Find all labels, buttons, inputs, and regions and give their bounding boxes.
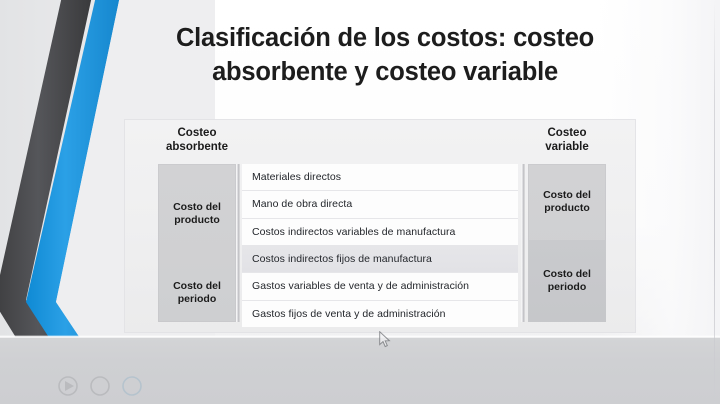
absorption-header-line-1: Costeo <box>141 126 253 140</box>
variable-header-line-1: Costeo <box>511 126 623 140</box>
variable-product-cost-block: Costo del producto <box>528 164 606 240</box>
column-header-absorption-costing: Costeo absorbente <box>141 126 253 155</box>
variable-header-line-2: variable <box>511 140 623 154</box>
left-bracket-rail <box>236 164 240 322</box>
list-item: Materiales directos <box>242 164 518 191</box>
absorption-period-line-1: Costo del <box>173 280 221 293</box>
right-bracket-rail <box>521 164 525 322</box>
absorption-period-cost-block: Costo del periodo <box>158 264 236 322</box>
cost-item-label: Costos indirectos variables de manufactu… <box>252 226 455 238</box>
cost-item-label: Materiales directos <box>252 171 341 183</box>
slide-canvas: Clasificación de los costos: costeo abso… <box>0 0 720 404</box>
column-header-variable-costing: Costeo variable <box>511 126 623 155</box>
variable-period-line-1: Costo del <box>543 268 591 281</box>
cost-item-label: Gastos variables de venta y de administr… <box>252 280 469 292</box>
cost-item-list: Materiales directos Mano de obra directa… <box>242 164 518 322</box>
variable-product-line-2: producto <box>543 202 591 215</box>
variable-category-column: Costo del producto Costo del periodo <box>528 164 606 322</box>
list-item: Gastos variables de venta y de administr… <box>242 273 518 300</box>
title-line-1: Clasificación de los costos: costeo <box>150 22 620 56</box>
variable-period-line-2: periodo <box>543 281 591 294</box>
cost-item-label: Gastos fijos de venta y de administració… <box>252 308 445 320</box>
absorption-category-column: Costo del producto Costo del periodo <box>158 164 236 322</box>
list-item: Gastos fijos de venta y de administració… <box>242 301 518 327</box>
absorption-product-cost-block: Costo del producto <box>158 164 236 264</box>
variable-product-line-1: Costo del <box>543 189 591 202</box>
list-item: Mano de obra directa <box>242 191 518 218</box>
absorption-product-line-2: producto <box>173 214 221 227</box>
page-title: Clasificación de los costos: costeo abso… <box>150 22 620 89</box>
title-line-2: absorbente y costeo variable <box>150 56 620 90</box>
cost-item-label: Mano de obra directa <box>252 198 352 210</box>
list-item: Costos indirectos variables de manufactu… <box>242 219 518 246</box>
player-bottom-band <box>0 338 720 404</box>
cost-classification-diagram: Costeo absorbente Costeo variable Costo … <box>125 120 635 332</box>
absorption-header-line-2: absorbente <box>141 140 253 154</box>
absorption-period-line-2: periodo <box>173 293 221 306</box>
absorption-product-line-1: Costo del <box>173 201 221 214</box>
variable-period-cost-block: Costo del periodo <box>528 240 606 322</box>
cost-item-label: Costos indirectos fijos de manufactura <box>252 253 432 265</box>
list-item: Costos indirectos fijos de manufactura <box>242 246 518 273</box>
